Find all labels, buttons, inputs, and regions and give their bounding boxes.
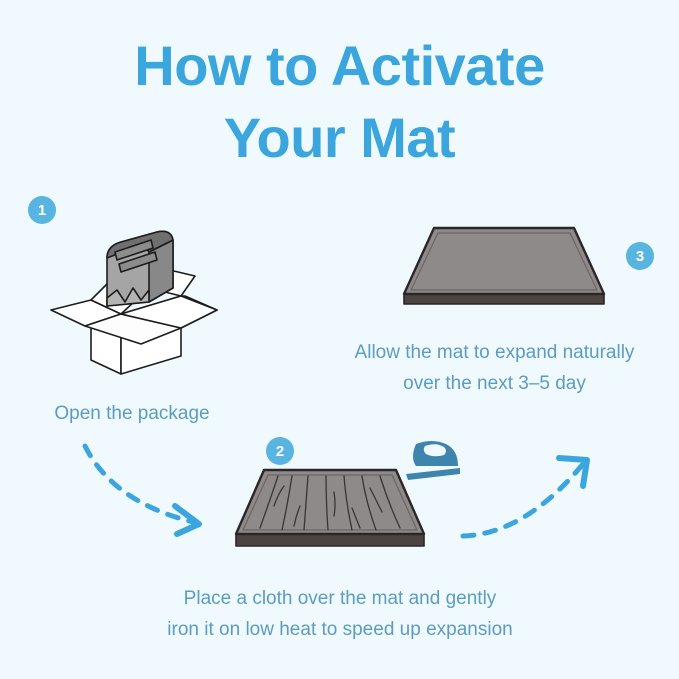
dashed-arrow-up-right-icon: [455, 448, 605, 548]
title-line-1: How to Activate: [0, 30, 679, 102]
step-1-illustration: [45, 218, 225, 383]
step-3-caption-line-2: over the next 3–5 day: [310, 368, 679, 399]
title-line-2: Your Mat: [0, 102, 679, 174]
arrow-step2-to-step3: [455, 448, 605, 553]
step-2-badge: 2: [266, 437, 294, 465]
infographic-canvas: How to Activate Your Mat: [0, 0, 679, 679]
step-1-badge: 1: [28, 196, 56, 224]
step-3-illustration: [398, 218, 610, 323]
step-2-caption: Place a cloth over the mat and gently ir…: [105, 583, 575, 646]
page-title: How to Activate Your Mat: [0, 30, 679, 173]
dashed-arrow-down-right-icon: [75, 440, 225, 540]
step-2-caption-line-2: iron it on low heat to speed up expansio…: [105, 614, 575, 645]
step-3-caption-line-1: Allow the mat to expand naturally: [310, 337, 679, 368]
step-1-caption-line-1: Open the package: [0, 398, 264, 429]
step-2-caption-line-1: Place a cloth over the mat and gently: [105, 583, 575, 614]
step-1-caption: Open the package: [0, 398, 264, 429]
flat-mat-icon: [398, 218, 610, 318]
step-3-caption: Allow the mat to expand naturally over t…: [310, 337, 679, 400]
arrow-step1-to-step2: [75, 440, 225, 545]
open-box-icon: [45, 218, 225, 378]
step-3-badge: 3: [626, 242, 654, 270]
